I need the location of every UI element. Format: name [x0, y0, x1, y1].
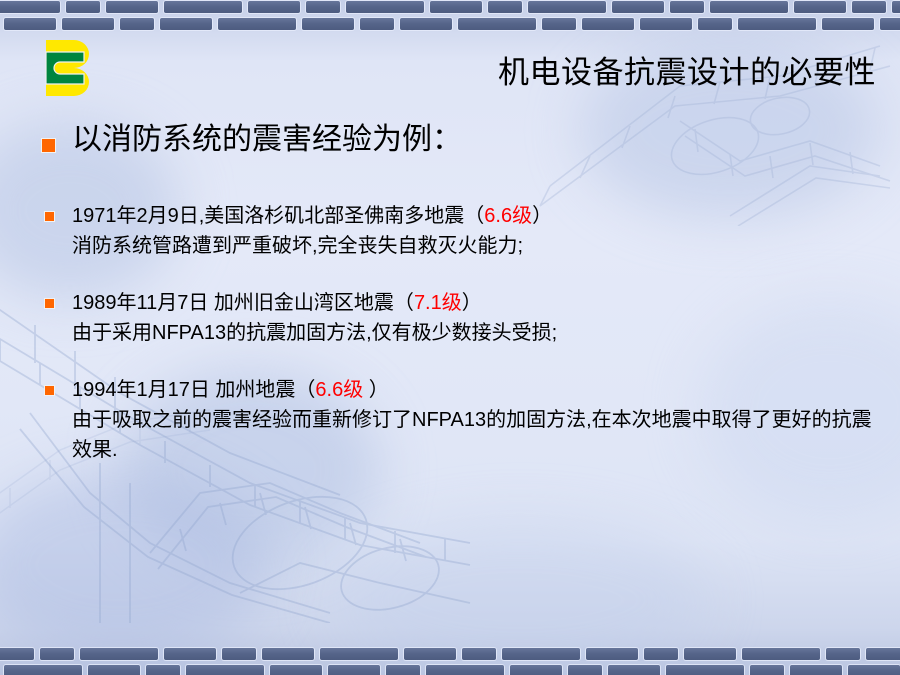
event-magnitude: 6.6级 — [484, 205, 532, 227]
event-detail: 消防系统管路遭到严重破坏,完全丧失自救灭火能力; — [72, 231, 900, 261]
event-date-place: 1971年2月9日,美国洛杉矶北部圣佛南多地震（ — [72, 205, 484, 227]
list-item: 1994年1月17日 加州地震（6.6级 ） 由于吸取之前的震害经验而重新修订了… — [0, 375, 900, 465]
event-paren-close: ） — [532, 205, 552, 227]
event-detail: 由于采用NFPA13的抗震加固方法,仅有极少数接头受损; — [72, 318, 900, 348]
event-magnitude: 7.1级 — [414, 292, 462, 314]
list-item: 1989年11月7日 加州旧金山湾区地震（7.1级） 由于采用NFPA13的抗震… — [0, 288, 900, 348]
brick-row — [0, 18, 900, 33]
slide-body: 以消防系统的震害经验为例： 1971年2月9日,美国洛杉矶北部圣佛南多地震（6.… — [0, 120, 900, 492]
heading-text: 以消防系统的震害经验为例： — [72, 120, 900, 161]
brick-row — [0, 1, 900, 16]
event-detail: 由于吸取之前的震害经验而重新修订了NFPA13的加固方法,在本次地震中取得了更好… — [72, 405, 872, 465]
event-date-place: 1994年1月17日 加州地震（ — [72, 379, 315, 401]
event-paren-close: ） — [462, 292, 482, 314]
brick-row — [0, 665, 900, 675]
bullet-square-icon — [44, 385, 55, 396]
list-item: 1971年2月9日,美国洛杉矶北部圣佛南多地震（6.6级） 消防系统管路遭到严重… — [0, 201, 900, 261]
page-title: 机电设备抗震设计的必要性 — [498, 47, 876, 92]
brick-band-top — [0, 0, 900, 33]
event-line: 1971年2月9日,美国洛杉矶北部圣佛南多地震（6.6级） — [72, 201, 900, 231]
slide-canvas: 机电设备抗震设计的必要性 以消防系统的震害经验为例： 1971年2月9日,美国洛… — [0, 0, 900, 675]
brick-row — [0, 648, 900, 663]
bullet-square-icon — [41, 138, 56, 153]
bullet-square-icon — [44, 211, 55, 222]
event-magnitude: 6.6级 — [315, 379, 368, 401]
event-paren-close: ） — [369, 379, 389, 401]
heading-bullet-item: 以消防系统的震害经验为例： — [0, 120, 900, 161]
company-logo-icon[interactable] — [40, 38, 102, 100]
bullet-square-icon — [44, 298, 55, 309]
event-line: 1994年1月17日 加州地震（6.6级 ） — [72, 375, 900, 405]
background-blob — [0, 470, 270, 660]
brick-band-bottom — [0, 639, 900, 675]
event-line: 1989年11月7日 加州旧金山湾区地震（7.1级） — [72, 288, 900, 318]
event-date-place: 1989年11月7日 加州旧金山湾区地震（ — [72, 292, 414, 314]
